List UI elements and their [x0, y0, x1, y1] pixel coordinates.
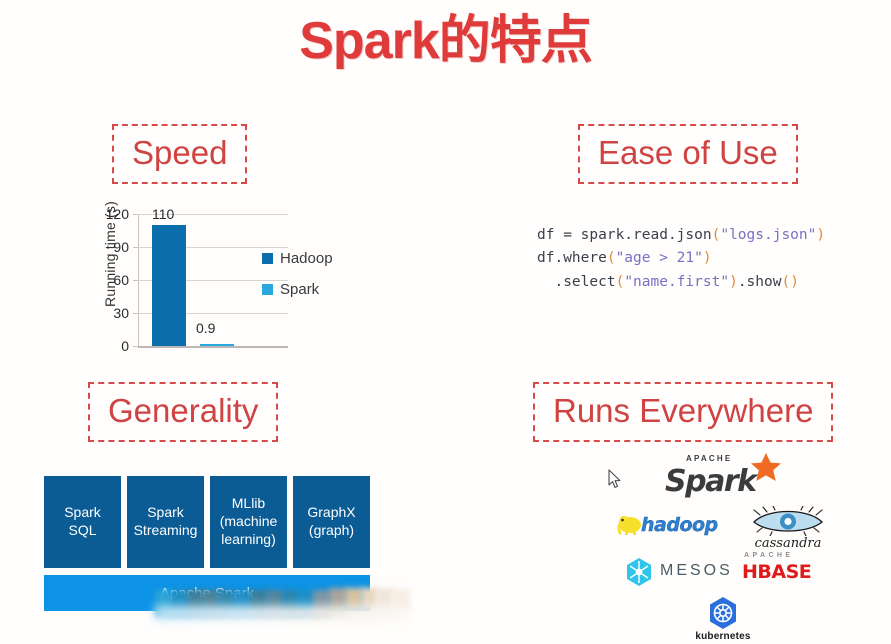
section-header-runs-everywhere: Runs Everywhere: [533, 382, 833, 442]
spark-component-box: SparkStreaming: [127, 476, 204, 568]
code-token: df = spark.read.json: [537, 227, 712, 243]
spark-component-box: GraphX(graph): [293, 476, 370, 568]
mesos-logo: MESOS: [624, 556, 734, 588]
chart-bar-hadoop: [152, 225, 186, 346]
code-token: ): [703, 250, 712, 266]
code-token: (): [781, 274, 798, 290]
slide-canvas: Spark的特点 Speed Ease of Use Generality Ru…: [0, 0, 891, 644]
code-token: (: [616, 274, 625, 290]
code-token: (: [607, 250, 616, 266]
chart-tick-mark: [133, 313, 138, 314]
code-line: df.where("age > 21"): [537, 247, 825, 270]
page-title: Spark的特点: [0, 12, 891, 72]
spark-component-label: MLlib(machinelearning): [220, 495, 278, 549]
chart-y-tick-label: 30: [113, 305, 129, 321]
platform-logo-grid: APACHE Spark hadoop: [600, 448, 870, 644]
chart-tick-mark: [133, 346, 138, 347]
chart-y-tick-label: 0: [121, 338, 129, 354]
cassandra-logo: cassandra: [733, 506, 843, 548]
code-sample: df = spark.read.json("logs.json")df.wher…: [537, 224, 825, 294]
chart-legend: HadoopSpark: [262, 250, 333, 312]
section-header-ease-of-use: Ease of Use: [578, 124, 798, 184]
code-token: df.where: [537, 250, 607, 266]
code-token: .select: [537, 274, 616, 290]
hadoop-wordmark: hadoop: [641, 514, 718, 536]
code-token: .show: [738, 274, 782, 290]
spark-component-label: GraphX(graph): [307, 504, 355, 540]
hadoop-logo: hadoop: [617, 510, 717, 540]
hbase-tagline: APACHE: [744, 552, 793, 559]
code-line: .select("name.first").show(): [537, 271, 825, 294]
mesos-wordmark: MESOS: [660, 562, 733, 580]
apache-spark-tagline: APACHE: [686, 454, 732, 463]
chart-y-tick-label: 120: [106, 206, 129, 222]
legend-swatch-icon: [262, 284, 273, 295]
kubernetes-logo: kubernetes: [688, 596, 758, 644]
spark-core-bar: Apache Spark: [44, 575, 370, 611]
spark-star-icon: [749, 452, 783, 486]
mouse-cursor-icon: [608, 469, 622, 489]
mesos-hexagon-icon: [624, 557, 654, 587]
chart-tick-mark: [133, 214, 138, 215]
code-token: "age > 21": [616, 250, 703, 266]
code-token: ): [816, 227, 825, 243]
spark-component-box: SparkSQL: [44, 476, 121, 568]
hbase-wordmark: HBASE: [742, 561, 811, 583]
legend-swatch-icon: [262, 253, 273, 264]
running-time-bar-chart: Running time (s) 12090603001100.9 Hadoop…: [72, 208, 362, 363]
spark-component-label: SparkSQL: [64, 504, 101, 540]
chart-y-tick-label: 60: [113, 272, 129, 288]
code-token: "logs.json": [720, 227, 816, 243]
section-header-generality: Generality: [88, 382, 278, 442]
chart-tick-mark: [133, 280, 138, 281]
section-header-speed: Speed: [112, 124, 247, 184]
apache-spark-wordmark: Spark: [665, 464, 756, 499]
chart-tick-mark: [133, 247, 138, 248]
cassandra-wordmark: cassandra: [733, 536, 843, 551]
hbase-logo: APACHE HBASE: [740, 552, 840, 586]
chart-data-label-hadoop: 110: [152, 206, 174, 222]
chart-bar-spark: [200, 344, 234, 346]
chart-legend-item: Spark: [262, 281, 333, 298]
cassandra-eye-icon: [752, 506, 824, 536]
spark-component-label: SparkStreaming: [134, 504, 198, 540]
chart-legend-label: Spark: [280, 281, 319, 298]
chart-gridline: 0: [138, 346, 288, 348]
apache-spark-logo: APACHE Spark: [665, 452, 785, 500]
code-token: "name.first": [624, 274, 729, 290]
redaction-tile: [392, 588, 410, 610]
spark-component-box: MLlib(machinelearning): [210, 476, 287, 568]
code-line: df = spark.read.json("logs.json"): [537, 224, 825, 247]
chart-y-tick-label: 90: [113, 239, 129, 255]
code-token: ): [729, 274, 738, 290]
chart-data-label-spark: 0.9: [196, 320, 215, 328]
kubernetes-wordmark: kubernetes: [688, 631, 758, 642]
redaction-tile: [376, 588, 394, 610]
chart-legend-item: Hadoop: [262, 250, 333, 267]
spark-stack-diagram: SparkSQLSparkStreamingMLlib(machinelearn…: [44, 476, 370, 611]
chart-legend-label: Hadoop: [280, 250, 333, 267]
spark-components-row: SparkSQLSparkStreamingMLlib(machinelearn…: [44, 476, 370, 568]
hadoop-elephant-icon: [617, 512, 643, 536]
kubernetes-helm-icon: [706, 596, 740, 630]
